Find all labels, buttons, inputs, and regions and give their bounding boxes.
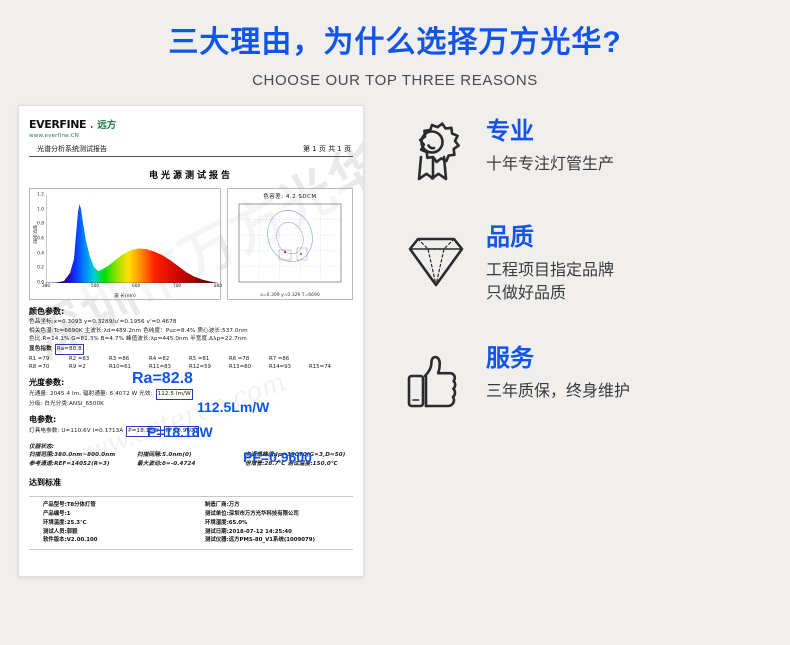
product-number: 产品编号:1 <box>43 510 191 519</box>
footer-right-col: 制造厂商:万方 测试单位:深圳市万方光华科技有限公司 环境湿度:65.0% 测试… <box>191 501 353 546</box>
cri-value-boxed: Ra=80.8 <box>55 344 84 355</box>
color-params-section: 颜色参数: 色品坐标:x=0.3093 y=0.3289/u'=0.1956 v… <box>29 306 353 371</box>
page-info: 第 1 页 共 1 页 <box>303 144 351 154</box>
max-fluctuation: 最大波动:δ=-0.4724 <box>137 460 245 469</box>
page-subtitle: CHOOSE OUR TOP THREE REASONS <box>0 72 790 89</box>
feature-title: 专业 <box>486 119 614 144</box>
diamond-icon <box>404 227 468 291</box>
cie-plot <box>235 202 345 288</box>
r-value: R1 =79 <box>29 355 69 363</box>
r-value: R4 =82 <box>149 355 189 363</box>
feature-text-quality: 品质 工程项目指定品牌 只做好品质 <box>486 225 614 306</box>
photometric-line-2: 分级: 白光分类:ANSI_6500K <box>29 400 353 409</box>
report-doc-title: 电光源测试报告 <box>29 168 353 181</box>
r-value: R8 =70 <box>29 363 69 371</box>
report-header-bar: 光谱分析系统测试报告 第 1 页 共 1 页 <box>29 141 353 157</box>
page-header: 三大理由，为什么选择万方光华? CHOOSE OUR TOP THREE REA… <box>0 0 790 89</box>
feature-desc: 三年质保，终身维护 <box>486 380 630 403</box>
tester-name: 测试人员:郭毅 <box>43 528 191 537</box>
award-ribbon-icon <box>404 121 468 185</box>
thumbs-up-icon <box>404 348 468 412</box>
r-value: R12=59 <box>189 363 229 371</box>
r-values-row-1: R1 =79 R2 =83 R3 =86 R4 =82 R5 =81 R6 =7… <box>29 355 353 363</box>
system-title: 光谱分析系统测试报告 <box>37 144 107 154</box>
cri-label: 显色指数 <box>29 345 52 354</box>
cie-footer-values: x=0.309 y=0.329 T=6690 <box>228 293 352 298</box>
r-value: R6 =78 <box>229 355 269 363</box>
color-params-heading: 颜色参数: <box>29 306 353 317</box>
r-value: R7 =86 <box>269 355 309 363</box>
feature-text-professional: 专业 十年专注灯管生产 <box>486 119 614 176</box>
ref-channel: 参考通道:REF=14052(R=3) <box>29 460 137 469</box>
r-value: R2 =83 <box>69 355 109 363</box>
cie-caption: 色容差: 4.2 SDCM <box>228 189 352 200</box>
test-unit: 测试单位:深圳市万方光华科技有限公司 <box>205 510 353 519</box>
color-line-2: 相关色温:Tc=6690K 主波长:λd=489.2nm 色纯度：Puc=8.4… <box>29 327 353 336</box>
annotation-pf: PF=0.9600 <box>243 449 312 465</box>
brand-dot-icon: . <box>89 113 94 132</box>
feature-item-professional: 专业 十年专注灯管生产 <box>404 119 772 185</box>
feature-item-quality: 品质 工程项目指定品牌 只做好品质 <box>404 225 772 306</box>
annotation-efficacy: 112.5Lm/W <box>197 399 269 415</box>
ambient-temp: 环境温度:25.3℃ <box>43 519 191 528</box>
luminous-flux-text: 光通量: 2045.4 lm, 辐射通量: 6.4072 W 光效: <box>29 390 153 399</box>
r-value: R15=74 <box>309 363 349 371</box>
scan-range: 扫描范围:380.0nm~800.0nm <box>29 451 137 460</box>
photometric-line-1: 光通量: 2045.4 lm, 辐射通量: 6.4072 W 光效: 112.5… <box>29 389 353 400</box>
content-area: 深圳市万方光华科技有限公司 www.estereo.com EVERFINE .… <box>0 105 790 577</box>
test-report-sheet: 深圳市万方光华科技有限公司 www.estereo.com EVERFINE .… <box>18 105 364 577</box>
annotation-ra: Ra=82.8 <box>132 370 193 388</box>
spd-x-label: 波 长(nm) <box>30 293 220 299</box>
r-value: R5 =81 <box>189 355 229 363</box>
features-column: 专业 十年专注灯管生产 品质 工程项目指定品牌 只做好 <box>370 105 772 577</box>
feature-desc: 工程项目指定品牌 只做好品质 <box>486 259 614 305</box>
efficacy-value-boxed: 112.5 lm/W <box>156 389 193 400</box>
spd-y-ticks: 1.2 1.0 0.8 0.6 0.4 0.2 0.0 <box>31 195 44 283</box>
feature-title: 服务 <box>486 346 630 371</box>
annotation-power: P=18.18W <box>147 424 213 440</box>
scan-interval: 扫描间隔:5.0nm(0) <box>137 451 245 460</box>
everfine-logo: EVERFINE . 远方 www.everfine.CN <box>29 113 353 139</box>
footer-left-col: 产品型号:T8分体灯管 产品编号:1 环境温度:25.3℃ 测试人员:郭毅 软件… <box>29 501 191 546</box>
test-instrument: 测试仪器:远方PMS-80_V1系统(1009079) <box>205 536 353 545</box>
charts-row: 相对光谱 1.2 1.0 0.8 0.6 0.4 0.2 0.0 <box>29 188 353 300</box>
r-value: R3 =86 <box>109 355 149 363</box>
manufacturer: 制造厂商:万方 <box>205 501 353 510</box>
color-line-1: 色品坐标:x=0.3093 y=0.3289/u'=0.1956 v'=0.46… <box>29 318 353 327</box>
brand-name-cn: 远方 <box>97 117 116 131</box>
page-title: 三大理由，为什么选择万方光华? <box>0 26 790 59</box>
test-date: 测试日期:2018-07-12 14:25:40 <box>205 528 353 537</box>
standard-heading: 达到标准 <box>29 477 353 488</box>
brand-url: www.everfine.CN <box>29 133 353 139</box>
feature-desc: 十年专注灯管生产 <box>486 153 614 176</box>
voltage-current-text: 灯具电参数: U=110.6V I=0.1713A <box>29 427 123 436</box>
r-value: R14=93 <box>269 363 309 371</box>
report-column: 深圳市万方光华科技有限公司 www.estereo.com EVERFINE .… <box>18 105 370 577</box>
cie-chromaticity-chart: 色容差: 4.2 SDCM <box>227 188 353 300</box>
report-footer-table: 产品型号:T8分体灯管 产品编号:1 环境温度:25.3℃ 测试人员:郭毅 软件… <box>29 496 353 551</box>
spd-curve <box>46 195 218 283</box>
spd-chart: 相对光谱 1.2 1.0 0.8 0.6 0.4 0.2 0.0 <box>29 188 221 300</box>
software-version: 软件版本:V2.00.100 <box>43 536 191 545</box>
color-line-3: 色比:R=14.1% G=81.3% B=4.7% 峰值波长:λp=445.0n… <box>29 335 353 344</box>
cri-line: 显色指数 Ra=80.8 <box>29 344 353 355</box>
product-model: 产品型号:T8分体灯管 <box>43 501 191 510</box>
r-value: R9 =2 <box>69 363 109 371</box>
r-value: R13=80 <box>229 363 269 371</box>
feature-text-service: 服务 三年质保，终身维护 <box>486 346 630 403</box>
brand-name: EVERFINE <box>29 118 86 131</box>
feature-title: 品质 <box>486 225 614 250</box>
ambient-humidity: 环境湿度:65.0% <box>205 519 353 528</box>
feature-item-service: 服务 三年质保，终身维护 <box>404 346 772 412</box>
